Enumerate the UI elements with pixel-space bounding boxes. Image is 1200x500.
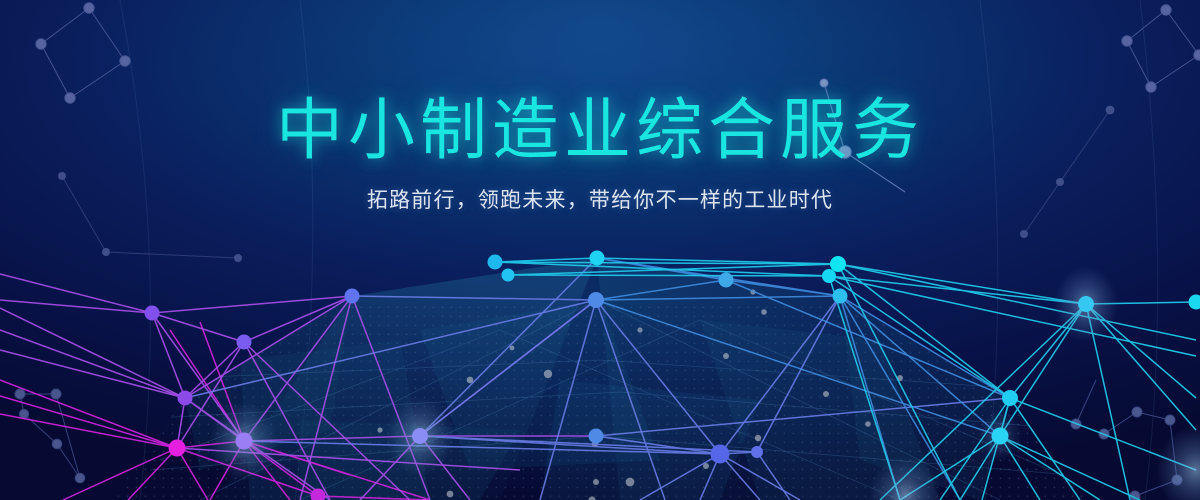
hero-banner: 中小制造业综合服务 拓路前行，领跑未来，带给你不一样的工业时代 bbox=[0, 0, 1200, 500]
wireframe-dome-graphic bbox=[0, 0, 1200, 500]
